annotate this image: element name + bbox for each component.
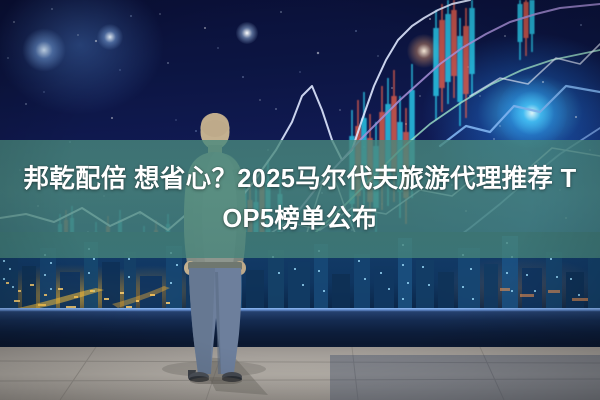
- title-block: 邦乾配倍 想省心？2025马尔代夫旅游代理推荐 T OP5榜单公布: [0, 140, 600, 258]
- title-line-1: 邦乾配倍 想省心？2025马尔代夫旅游代理推荐 T: [24, 159, 577, 199]
- rooftop-parapet: [0, 308, 600, 350]
- title-line-2: OP5榜单公布: [222, 199, 377, 239]
- cover-image: 邦乾配倍 想省心？2025马尔代夫旅游代理推荐 T OP5榜单公布: [0, 0, 600, 400]
- rooftop-floor: [0, 347, 600, 400]
